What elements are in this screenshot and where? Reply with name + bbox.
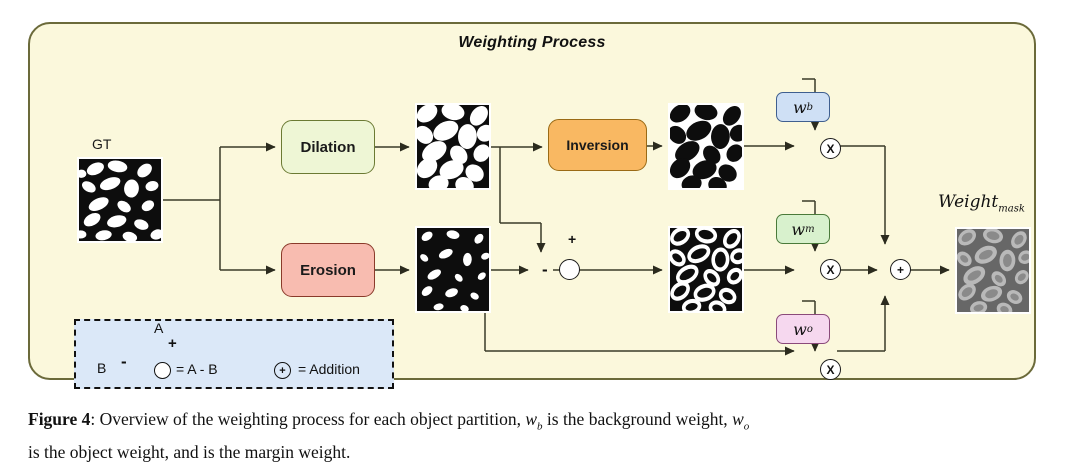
weighting-process-panel: Weighting Process	[28, 22, 1036, 380]
erosion-box[interactable]: Erosion	[281, 243, 375, 297]
addition-node-icon: +	[890, 259, 911, 280]
weight-mask-label: Weightmask	[938, 192, 1025, 214]
multiply-node-object-icon: X	[820, 359, 841, 380]
weight-mask-label-main: Weight	[938, 192, 998, 212]
margin-ring-mask	[668, 226, 744, 313]
erosion-label: Erosion	[300, 262, 356, 279]
w-m-symbol: w	[791, 220, 805, 239]
dilated-mask	[415, 103, 491, 190]
legend-subtraction-equation: = A - B	[176, 361, 218, 377]
legend-box: A + B - = A - B + = Addition	[74, 319, 394, 389]
weight-box-object[interactable]: wo	[776, 314, 830, 344]
caption-w-o-subscript: o	[744, 421, 750, 433]
weight-mask-label-sub: mask	[998, 203, 1025, 214]
page-title: Weighting Process	[30, 34, 1034, 52]
multiply-node-background-icon: X	[820, 138, 841, 159]
legend-addition-equation: = Addition	[298, 361, 360, 377]
weight-box-margin[interactable]: wm	[776, 214, 830, 244]
dilation-box[interactable]: Dilation	[281, 120, 375, 174]
w-b-subscript: b	[807, 102, 813, 113]
legend-minus-sign: -	[121, 352, 127, 372]
subtract-minus-sign: -	[542, 260, 548, 280]
inversion-label: Inversion	[566, 137, 628, 153]
gt-label: GT	[92, 136, 111, 152]
figure-caption-text-2: is the background weight,	[543, 409, 733, 429]
inverted-dilated-mask	[668, 103, 744, 190]
ground-truth-mask	[77, 157, 163, 243]
figure-caption-label: Figure 4	[28, 409, 90, 429]
subtract-node-icon	[559, 259, 580, 280]
figure-caption-text-1: : Overview of the weighting process for …	[90, 409, 525, 429]
w-m-subscript: m	[805, 224, 814, 235]
caption-w-o-symbol: w	[732, 409, 744, 429]
multiply-node-margin-icon: X	[820, 259, 841, 280]
figure-caption-text-3: is the object weight, and is the margin …	[28, 442, 350, 462]
legend-b-label: B	[97, 360, 106, 376]
legend-plus-sign: +	[168, 335, 177, 352]
caption-w-b-symbol: w	[525, 409, 537, 429]
final-weight-mask	[955, 227, 1031, 314]
eroded-mask	[415, 226, 491, 313]
inversion-box[interactable]: Inversion	[548, 119, 647, 171]
w-o-subscript: o	[807, 324, 813, 335]
dilation-label: Dilation	[301, 139, 356, 156]
legend-addition-node-icon: +	[274, 362, 291, 379]
legend-a-label: A	[154, 320, 163, 336]
subtract-plus-sign: +	[568, 231, 576, 247]
w-b-symbol: w	[793, 98, 807, 117]
figure-caption: Figure 4: Overview of the weighting proc…	[28, 404, 1058, 467]
legend-subtract-node-icon	[154, 362, 171, 379]
w-o-symbol: w	[793, 320, 807, 339]
weight-box-background[interactable]: wb	[776, 92, 830, 122]
